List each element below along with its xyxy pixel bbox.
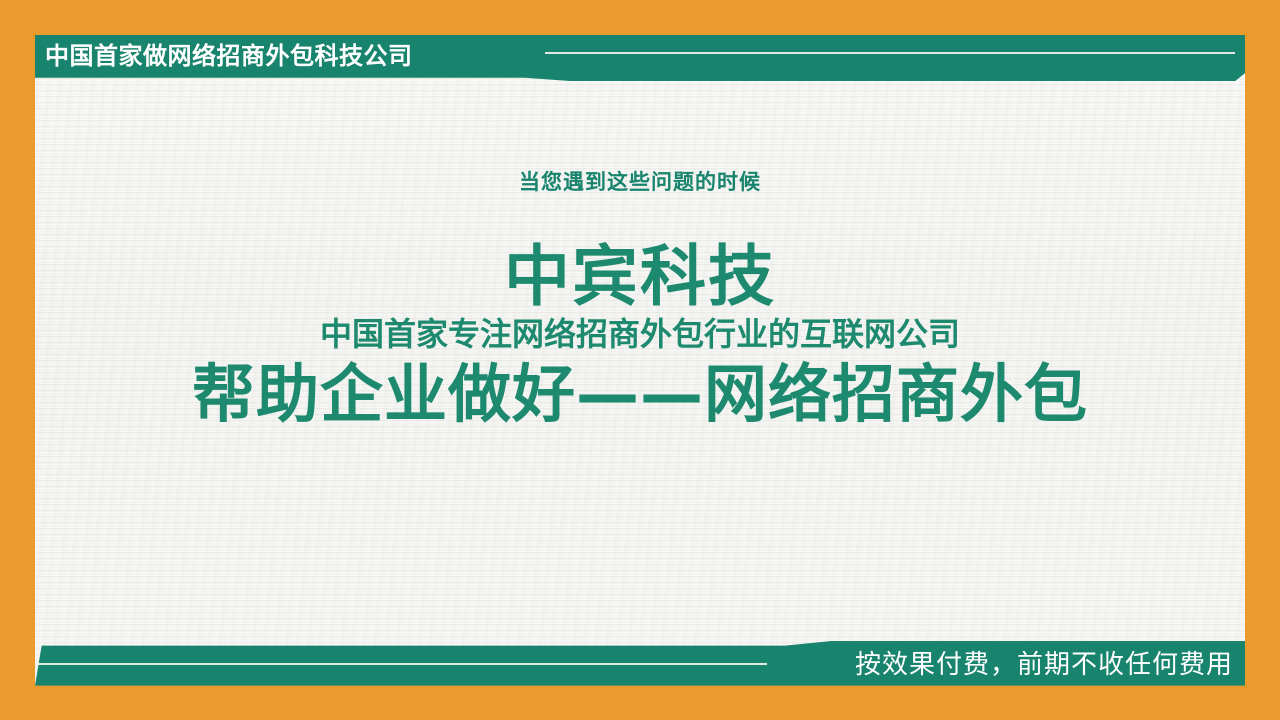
eyebrow-text: 当您遇到这些问题的时候 [35,166,1245,196]
footer-banner-rule [37,663,767,665]
slide-content: 当您遇到这些问题的时候 中宾科技 中国首家专注网络招商外包行业的互联网公司 帮助… [35,35,1245,685]
footer-banner: 按效果付费，前期不收任何费用 [35,641,1245,687]
brand-subtitle: 中国首家专注网络招商外包行业的互联网公司 [35,318,1245,350]
main-headline: 帮助企业做好——网络招商外包 [35,362,1245,428]
brand-title: 中宾科技 [35,244,1245,310]
footer-tagline: 按效果付费，前期不收任何费用 [855,644,1233,687]
presentation-slide: 中国首家做网络招商外包科技公司 当您遇到这些问题的时候 中宾科技 中国首家专注网… [0,0,1280,720]
